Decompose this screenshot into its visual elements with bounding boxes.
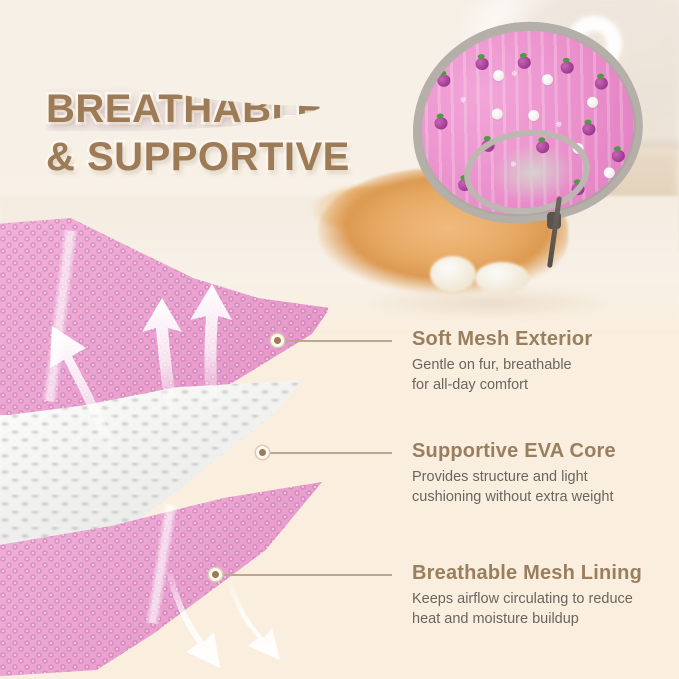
feature-body-line: Keeps airflow circulating to reduce: [412, 589, 662, 609]
leader-line: [268, 452, 392, 454]
feature-title: Breathable Mesh Lining: [412, 562, 642, 585]
feature-body: Gentle on fur, breathable for all-day co…: [412, 355, 662, 395]
feature-body: Provides structure and light cushioning …: [412, 467, 662, 507]
feature-body-line: Gentle on fur, breathable: [412, 355, 662, 375]
feature-body-line: Provides structure and light: [412, 467, 662, 487]
feature-title: Soft Mesh Exterior: [412, 328, 592, 351]
recovery-cone-collar: ❄ ❄ ❄ ❄: [412, 22, 642, 227]
feature-title: Supportive EVA Core: [412, 440, 616, 463]
feature-body-line: heat and moisture buildup: [412, 609, 662, 629]
callout-dot: [271, 334, 284, 347]
callout-dot: [209, 568, 222, 581]
page-title: BREATHABLE & SUPPORTIVE: [46, 85, 386, 181]
airflow-arrow-down: [226, 580, 280, 660]
page-title-line-2: & SUPPORTIVE: [46, 133, 386, 181]
infographic-canvas: ❄ ❄ ❄ ❄ BREATHABLE & SUPPORTIVE: [0, 0, 679, 679]
page-title-line-1: BREATHABLE: [46, 87, 324, 131]
leader-line: [221, 574, 392, 576]
feature-body-line: cushioning without extra weight: [412, 487, 662, 507]
exploded-layer-diagram: [0, 208, 330, 679]
feature-body: Keeps airflow circulating to reduce heat…: [412, 589, 662, 629]
leader-line: [283, 340, 392, 342]
cat-paw-left: [430, 256, 476, 292]
feature-body-line: for all-day comfort: [412, 375, 662, 395]
callout-dot: [256, 446, 269, 459]
cat-paw-right: [475, 262, 529, 294]
